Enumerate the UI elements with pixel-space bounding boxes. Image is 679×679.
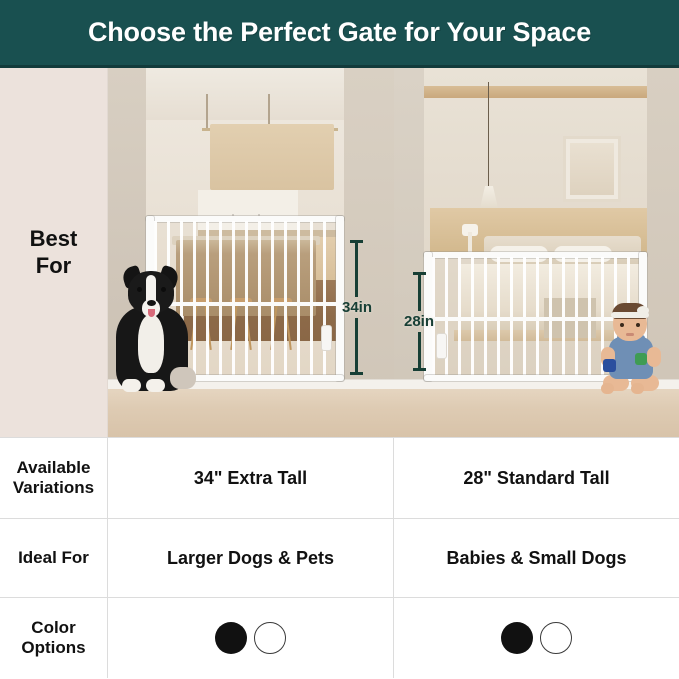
row-label-line2: Variations [13, 478, 94, 498]
row-label-line2: Options [21, 638, 85, 658]
color-swatch-white[interactable] [540, 622, 572, 654]
cell-ideal-for-col1: Larger Dogs & Pets [108, 519, 394, 597]
table-row: Color Options [0, 597, 679, 678]
color-swatch-black[interactable] [215, 622, 247, 654]
row-label-available-variations: Available Variations [0, 438, 108, 518]
measure-line-lower [418, 332, 421, 368]
best-for-label-line2: For [30, 253, 78, 280]
measure-28in: 28in [404, 272, 434, 388]
cell-color-options-col1 [108, 598, 394, 678]
measure-line-upper [418, 275, 421, 311]
measure-34in: 34in [342, 240, 372, 392]
cell-variation-col1: 34" Extra Tall [108, 438, 394, 518]
cell-variation-col2: 28" Standard Tall [394, 438, 679, 518]
kitchen-front-floor [108, 389, 394, 437]
photo-kitchen-tall-gate: 34in [108, 68, 394, 437]
pendant-cord-1 [206, 94, 208, 128]
baby-sitting [601, 305, 663, 397]
cell-ideal-for-col2: Babies & Small Dogs [394, 519, 679, 597]
row-label-color-options: Color Options [0, 598, 108, 678]
bedroom-pendant-shade [480, 186, 498, 208]
bedroom-crown-molding [424, 86, 647, 98]
photo-bedroom-standard-gate: 28in [394, 68, 679, 437]
row-label-line1: Color [21, 618, 85, 638]
gate-latch-right-photo [436, 333, 447, 359]
best-for-label-cell: Best For [0, 68, 108, 437]
row-label-ideal-for: Ideal For [0, 519, 108, 597]
measure-line-upper [355, 243, 358, 297]
measure-label-28in: 28in [404, 311, 434, 332]
row-label-line1: Ideal For [18, 548, 89, 568]
comparison-table: Available Variations 34" Extra Tall 28" … [0, 437, 679, 679]
toy-blue [603, 359, 616, 372]
swatch-group-col2 [501, 622, 572, 654]
color-swatch-black[interactable] [501, 622, 533, 654]
dog-border-collie [112, 271, 198, 395]
table-row: Ideal For Larger Dogs & Pets Babies & Sm… [0, 518, 679, 597]
measure-label-34in: 34in [342, 297, 372, 318]
swatch-group-col1 [215, 622, 286, 654]
comparison-infographic: Choose the Perfect Gate for Your Space B… [0, 0, 679, 679]
cell-color-options-col2 [394, 598, 679, 678]
measure-line-lower [355, 318, 358, 372]
page-title: Choose the Perfect Gate for Your Space [88, 17, 591, 48]
kitchen-ceiling [146, 68, 344, 120]
best-for-label: Best For [30, 226, 78, 280]
row-label-line1: Available [13, 458, 94, 478]
photo-comparison-band: Best For [0, 68, 679, 437]
best-for-label-line1: Best [30, 226, 78, 253]
measure-cap-bottom [413, 368, 426, 371]
kitchen-upper-cabinets [210, 124, 334, 190]
toy-green [635, 353, 647, 365]
bedroom-pendant-cord [488, 82, 489, 188]
bedroom-wall-art [563, 136, 621, 202]
measure-cap-bottom [350, 372, 363, 375]
header-banner: Choose the Perfect Gate for Your Space [0, 0, 679, 68]
table-row: Available Variations 34" Extra Tall 28" … [0, 437, 679, 518]
pendant-cord-2 [268, 94, 270, 128]
color-swatch-white[interactable] [254, 622, 286, 654]
gate-latch-left-photo [321, 325, 332, 351]
